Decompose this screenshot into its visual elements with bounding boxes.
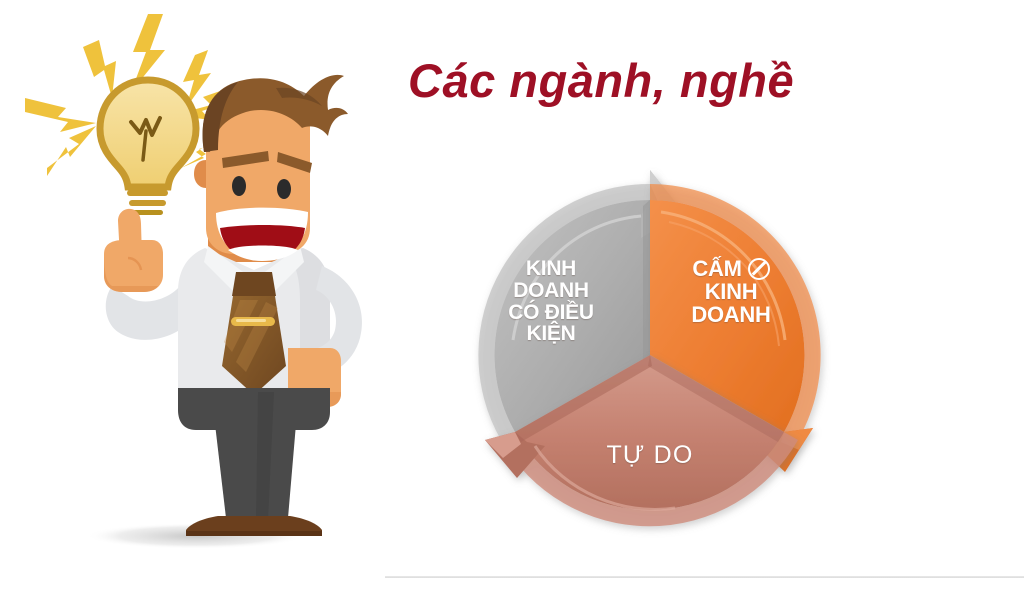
business-sectors-cycle-diagram: KINH DOANH CÓ ĐIỀU KIỆN CẤM KINH DOANH T… (455, 160, 845, 550)
ear (194, 160, 206, 188)
pointing-finger-hand (104, 209, 163, 292)
businessman-illustration (0, 0, 400, 590)
eye-left (232, 176, 246, 196)
dark-gray-trousers (178, 388, 330, 520)
businessman-svg (0, 0, 400, 590)
footer-divider (385, 576, 1024, 578)
cycle-diagram-svg (455, 160, 845, 550)
page-title: Các ngành, nghề (408, 56, 878, 107)
eye-right (277, 179, 291, 199)
slide-canvas: Các ngành, nghề (0, 0, 1024, 590)
idea-lightbulb-icon (100, 80, 196, 215)
